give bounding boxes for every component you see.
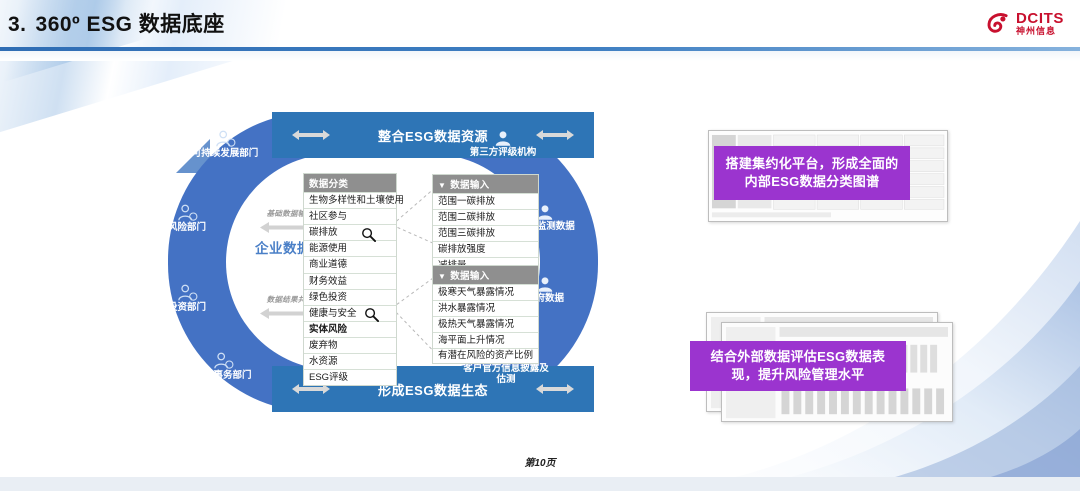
search-icon[interactable] xyxy=(364,307,379,322)
footer-bar xyxy=(0,477,1080,491)
band-top: 整合ESG数据资源 xyxy=(272,112,594,158)
ring-node-third-party-rating: 第三方评级机构 xyxy=(464,130,542,159)
person-badge-icon xyxy=(176,284,198,302)
ring-node-label: 投资部门 xyxy=(148,303,226,314)
table-row[interactable]: 绿色投资 xyxy=(304,289,396,305)
table-row[interactable]: 水资源 xyxy=(304,353,396,369)
dcits-swirl-icon xyxy=(985,10,1011,36)
logo-subtext: 神州信息 xyxy=(1016,27,1064,36)
table-row[interactable]: ESG评级 xyxy=(304,369,396,385)
table-row[interactable]: 洪水暴露情况 xyxy=(433,300,538,316)
table-row[interactable]: 极寒天气暴露情况 xyxy=(433,284,538,300)
table-header[interactable]: ▼数据输入 xyxy=(433,175,538,193)
table-row[interactable]: 生物多样性和土壤使用 xyxy=(304,192,396,208)
table-row[interactable]: 实体风险 xyxy=(304,321,396,337)
search-icon[interactable] xyxy=(361,227,376,242)
table-row[interactable]: 能源使用 xyxy=(304,240,396,256)
person-icon xyxy=(493,130,513,147)
table-header: 数据分类 xyxy=(304,174,396,192)
callout-risk-management: 结合外部数据评估ESG数据表现，提升风险管理水平 xyxy=(690,341,906,391)
callout-platform: 搭建集约化平台，形成全面的内部ESG数据分类图谱 xyxy=(714,146,910,200)
brand-logo: DCITS 神州信息 xyxy=(985,10,1064,36)
table-row[interactable]: 极热天气暴露情况 xyxy=(433,316,538,332)
person-badge-icon xyxy=(176,204,198,222)
ring-node-label: 客户官方信息披露及估测 xyxy=(460,364,552,385)
chevron-down-icon: ▼ xyxy=(438,272,446,281)
person-badge-icon xyxy=(214,130,236,148)
chevron-down-icon: ▼ xyxy=(438,181,446,190)
double-arrow-icon xyxy=(290,128,332,142)
ring-node-label: 公共事务部门 xyxy=(184,371,262,382)
page-title-number: 3. xyxy=(8,13,27,36)
table-row[interactable]: 财务效益 xyxy=(304,273,396,289)
logo-wordmark: DCITS xyxy=(1016,11,1064,26)
table-row[interactable]: 范围三碳排放 xyxy=(433,225,538,241)
table-row[interactable]: 有潜在风险的资产比例 xyxy=(433,348,538,362)
page-title: 3.360º ESG 数据底座 xyxy=(8,8,225,38)
table-row[interactable]: 碳排放 xyxy=(304,224,396,240)
table-row[interactable]: 废弃物 xyxy=(304,337,396,353)
ring-node-public-affairs-dept: 公共事务部门 xyxy=(184,352,262,382)
table-row[interactable]: 健康与安全 xyxy=(304,305,396,321)
ring-node-sustainability-dept: 可持续发展部门 xyxy=(186,130,264,160)
ring-node-investment-dept: 投资部门 xyxy=(148,284,226,314)
table-header[interactable]: ▼数据输入 xyxy=(433,266,538,284)
page-title-text: 360º ESG 数据底座 xyxy=(36,13,225,36)
table-row[interactable]: 商业道德 xyxy=(304,256,396,272)
data-classification-table: 数据分类 生物多样性和土壤使用 社区参与 碳排放 能源使用 商业道德 财务效益 … xyxy=(303,173,397,386)
table-row[interactable]: 碳排放强度 xyxy=(433,241,538,257)
table-row[interactable]: 海平面上升情况 xyxy=(433,332,538,348)
data-input-table-physical-risk: ▼数据输入 极寒天气暴露情况 洪水暴露情况 极热天气暴露情况 海平面上升情况 有… xyxy=(432,265,539,364)
ring-node-label: 风险部门 xyxy=(148,223,226,234)
ring-node-risk-dept: 风险部门 xyxy=(148,204,226,234)
ring-node-label: 可持续发展部门 xyxy=(186,149,264,160)
table-row[interactable]: 社区参与 xyxy=(304,208,396,224)
slide: 3.360º ESG 数据底座 DCITS 神州信息 整合ESG数据资源 xyxy=(0,0,1080,491)
ring-node-label: 第三方评级机构 xyxy=(464,148,542,159)
table-row[interactable]: 范围二碳排放 xyxy=(433,209,538,225)
table-header-label: 数据输入 xyxy=(450,180,489,191)
page-number: 第10页 xyxy=(0,454,1080,469)
header-divider-shadow xyxy=(0,51,1080,61)
data-input-table-carbon: ▼数据输入 范围一碳排放 范围二碳排放 范围三碳排放 碳排放强度 减排量 xyxy=(432,174,539,275)
table-row[interactable]: 范围一碳排放 xyxy=(433,193,538,209)
person-badge-icon xyxy=(212,352,234,370)
table-header-label: 数据输入 xyxy=(450,271,489,282)
